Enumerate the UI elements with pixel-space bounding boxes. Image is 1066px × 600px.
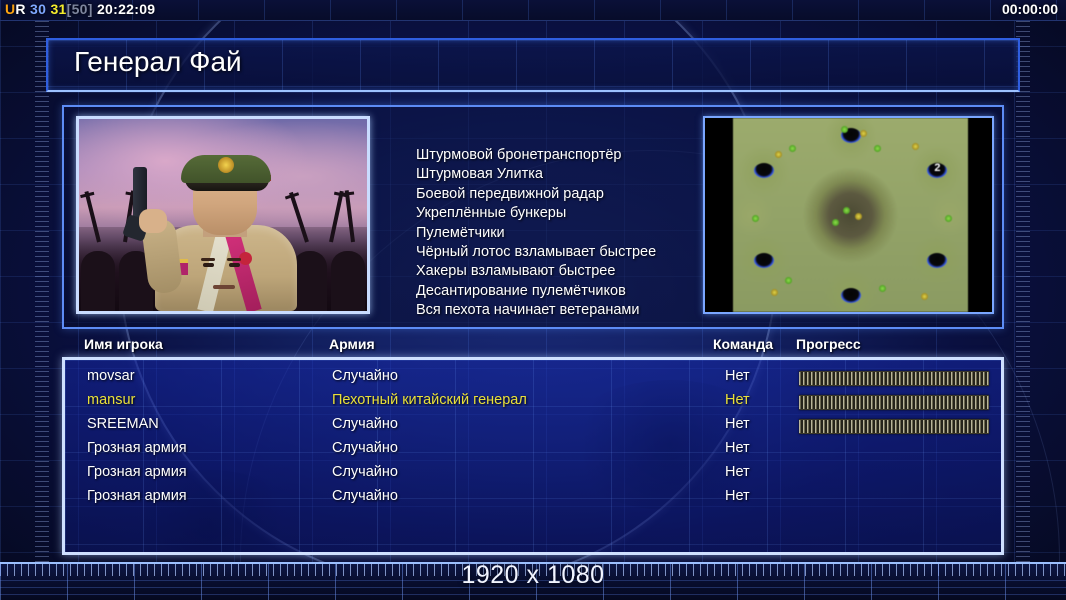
map-start-position [841,288,861,303]
player-army[interactable]: Случайно [332,464,398,480]
eye-left [203,263,214,267]
ability-item: Штурмовой бронетранспортёр [416,146,696,165]
map-prop-icon [832,219,839,226]
player-army[interactable]: Случайно [332,488,398,504]
player-army[interactable]: Пехотный китайский генерал [332,392,527,408]
column-header-progress: Прогресс [796,336,861,352]
soldier-silhouette [81,251,115,311]
map-start-position [754,253,774,268]
abilities-list: Штурмовой бронетранспортёр Штурмовая Ули… [416,116,696,314]
ability-item: Штурмовая Улитка [416,165,696,184]
player-table: movsar Случайно Нет mansur Пехотный кита… [62,357,1004,555]
map-prop-icon [789,145,796,152]
loading-screen: UR 30 31[50] 20:22:09 00:00:00 Генерал Ф… [0,0,1066,600]
table-row[interactable]: Грозная армия Случайно Нет [65,440,1001,463]
table-row[interactable]: movsar Случайно Нет [65,368,1001,391]
elapsed-timer: 00:00:00 [1002,1,1058,17]
player-name: Грозная армия [87,464,187,480]
map-prop-icon [860,130,867,137]
stat-value-yellow: 31 [50,1,66,17]
map-terrain-image: 2 [733,118,968,312]
progress-bar [799,419,989,434]
map-prop-icon [771,289,778,296]
stat-value-bracket: [50] [67,1,93,17]
player-team[interactable]: Нет [725,392,750,408]
player-team[interactable]: Нет [725,464,750,480]
map-start-position: 2 [927,163,947,178]
map-start-position [927,253,947,268]
general-figure [151,143,301,311]
general-info-panel: Штурмовой бронетранспортёр Штурмовая Ули… [62,105,1004,329]
player-name: SREEMAN [87,416,159,432]
map-prop-icon [945,215,952,222]
table-row[interactable]: Грозная армия Случайно Нет [65,488,1001,511]
player-name: Грозная армия [87,488,187,504]
general-portrait [76,116,370,314]
player-army[interactable]: Случайно [332,368,398,384]
ability-item: Пулемётчики [416,224,696,243]
player-team[interactable]: Нет [725,368,750,384]
ability-item: Чёрный лотос взламывает быстрее [416,243,696,262]
status-bar: UR 30 31[50] 20:22:09 00:00:00 [0,0,1066,21]
table-row[interactable]: Грозная армия Случайно Нет [65,464,1001,487]
status-bar-grid [0,0,1066,20]
map-prop-icon [785,277,792,284]
table-row[interactable]: mansur Пехотный китайский генерал Нет [65,392,1001,415]
cap-emblem-icon [218,157,234,173]
map-prop-icon [843,207,850,214]
map-prop-icon [874,145,881,152]
title-panel: Генерал Фай [46,38,1020,92]
player-army[interactable]: Случайно [332,440,398,456]
ability-item: Укреплённые бункеры [416,204,696,223]
right-ruler-strip [1016,21,1030,579]
map-prop-icon [921,293,928,300]
ability-item: Десантирование пулемётчиков [416,282,696,301]
player-team[interactable]: Нет [725,488,750,504]
eyebrow-left [201,258,215,261]
player-team[interactable]: Нет [725,440,750,456]
map-prop-icon [775,151,782,158]
ur-label-u: U [5,1,15,17]
clock: 20:22:09 [97,1,155,17]
map-prop-icon [912,143,919,150]
left-ruler-strip [35,21,49,579]
map-prop-icon [855,213,862,220]
column-header-name: Имя игрока [84,336,163,352]
ur-label-r: R [15,1,25,17]
map-start-position [754,163,774,178]
player-name: Грозная армия [87,440,187,456]
ability-item: Хакеры взламывают быстрее [416,262,696,281]
player-team[interactable]: Нет [725,416,750,432]
network-stats: UR 30 31[50] 20:22:09 [5,1,155,17]
map-prop-icon [879,285,886,292]
player-table-header: Имя игрока Армия Команда Прогресс [62,336,1004,358]
soldier-silhouette [331,251,365,311]
start-position-label: 2 [927,162,947,174]
player-army[interactable]: Случайно [332,416,398,432]
eyebrow-right [227,258,241,261]
ability-item: Вся пехота начинает ветеранами [416,301,696,320]
player-name: movsar [87,368,135,384]
progress-bar [799,371,989,386]
map-prop-icon [841,126,848,133]
map-preview: 2 [703,116,994,314]
hand [139,209,167,233]
progress-bar [799,395,989,410]
mouth [213,285,235,289]
player-name: mansur [87,392,135,408]
table-row[interactable]: SREEMAN Случайно Нет [65,416,1001,439]
eye-right [229,263,240,267]
map-prop-icon [752,215,759,222]
column-header-army: Армия [329,336,375,352]
resolution-label: 1920 x 1080 [0,561,1066,590]
column-header-team: Команда [713,336,773,352]
ability-item: Боевой передвижной радар [416,185,696,204]
page-title: Генерал Фай [74,46,242,78]
stat-value-blue: 30 [30,1,46,17]
